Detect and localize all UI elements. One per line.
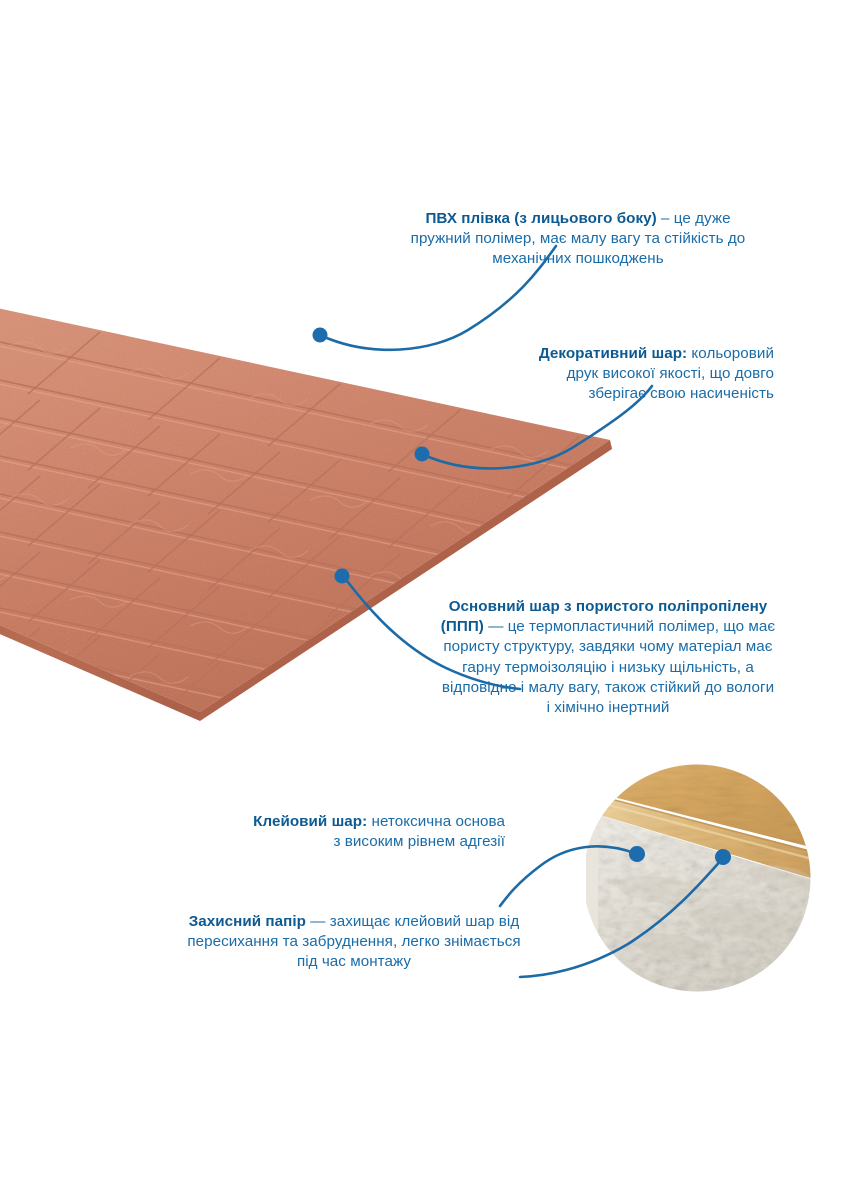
callout-pvc-film-line-2: пружний полімер, має малу вагу та стійкі… (411, 230, 746, 247)
callout-ppp-core-layer: Основний шар з пористого поліпропілену (… (437, 597, 779, 718)
callout-ppp-line-6: і хімічно інертний (547, 699, 670, 716)
callout-ppp-line-3: пористу структуру, завдяки чому матеріал… (443, 638, 772, 655)
callout-decorative-line-3: зберігає свою насиченість (588, 385, 774, 402)
callout-paper-line-1: Захисний папір — захищає клейовий шар ві… (189, 913, 520, 930)
callout-pvc-film-line-3: механічних пошкоджень (492, 250, 663, 267)
marker-dot-adhesive (629, 846, 645, 862)
callout-adhesive-line-2: з високим рівнем адгезії (333, 833, 505, 850)
callout-ppp-line-1: Основний шар з пористого поліпропілену (449, 598, 768, 615)
marker-dot-pvc-film (313, 328, 328, 343)
callout-adhesive-layer: Клейовий шар: нетоксична основа з високи… (175, 812, 505, 852)
marker-dot-ppp (335, 569, 350, 584)
callout-ppp-line-2: (ППП) — це термопластичний полімер, що м… (441, 618, 775, 635)
callout-paper-line-2: пересихання та забруднення, легко знімає… (187, 933, 520, 950)
callout-decorative-line-1: Декоративний шар: кольоровий (539, 345, 774, 362)
infographic-artwork (0, 0, 851, 1184)
inset-photo-group (576, 742, 832, 1010)
callout-ppp-line-5: відповідно і малу вагу, також стійкий до… (442, 679, 774, 696)
marker-dot-paper (715, 849, 731, 865)
callout-ppp-line-4: гарну термоізоляцію і низьку щільність, … (462, 659, 754, 676)
callout-protective-paper: Захисний папір — захищає клейовий шар ві… (160, 912, 548, 973)
callout-pvc-film: ПВХ плівка (з лицьового боку) – це дуже … (382, 209, 774, 270)
callout-adhesive-line-1: Клейовий шар: нетоксична основа (253, 813, 505, 830)
callout-paper-line-3: під час монтажу (297, 953, 411, 970)
infographic-page: ПВХ плівка (з лицьового боку) – це дуже … (0, 0, 851, 1184)
callout-decorative-layer: Декоративний шар: кольоровий друк високо… (430, 344, 774, 405)
marker-dot-decorative (415, 447, 430, 462)
callout-pvc-film-line-1: ПВХ плівка (з лицьового боку) – це дуже (425, 210, 730, 227)
callout-decorative-line-2: друк високої якості, що довго (567, 365, 774, 382)
